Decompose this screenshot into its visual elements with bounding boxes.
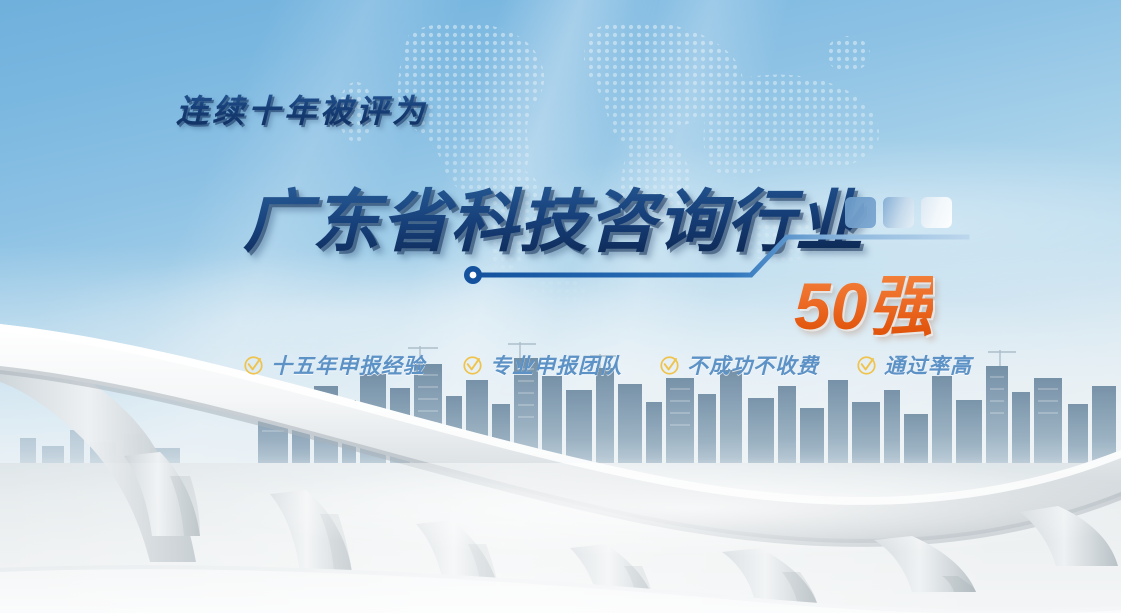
feature-label: 通过率高 bbox=[884, 350, 972, 380]
feature-label: 专业申报团队 bbox=[490, 350, 622, 380]
feature-item: 不成功不收费 bbox=[659, 350, 819, 380]
promo-banner: 连续十年被评为 广东省科技咨询行业 50强 bbox=[0, 0, 1121, 613]
feature-item: 十五年申报经验 bbox=[243, 350, 425, 380]
check-circle-icon bbox=[462, 355, 483, 376]
check-circle-icon bbox=[243, 355, 264, 376]
kicker-text: 连续十年被评为 bbox=[176, 86, 428, 132]
badge-50-strong: 50强 bbox=[794, 253, 933, 349]
check-circle-icon bbox=[659, 355, 680, 376]
feature-list: 十五年申报经验 专业申报团队 不成功不收费 bbox=[243, 350, 972, 380]
feature-label: 十五年申报经验 bbox=[271, 350, 425, 380]
feature-item: 专业申报团队 bbox=[462, 350, 622, 380]
feature-item: 通过率高 bbox=[856, 350, 972, 380]
banner-content: 连续十年被评为 广东省科技咨询行业 50强 bbox=[0, 0, 1121, 613]
feature-label: 不成功不收费 bbox=[687, 350, 819, 380]
check-circle-icon bbox=[856, 355, 877, 376]
